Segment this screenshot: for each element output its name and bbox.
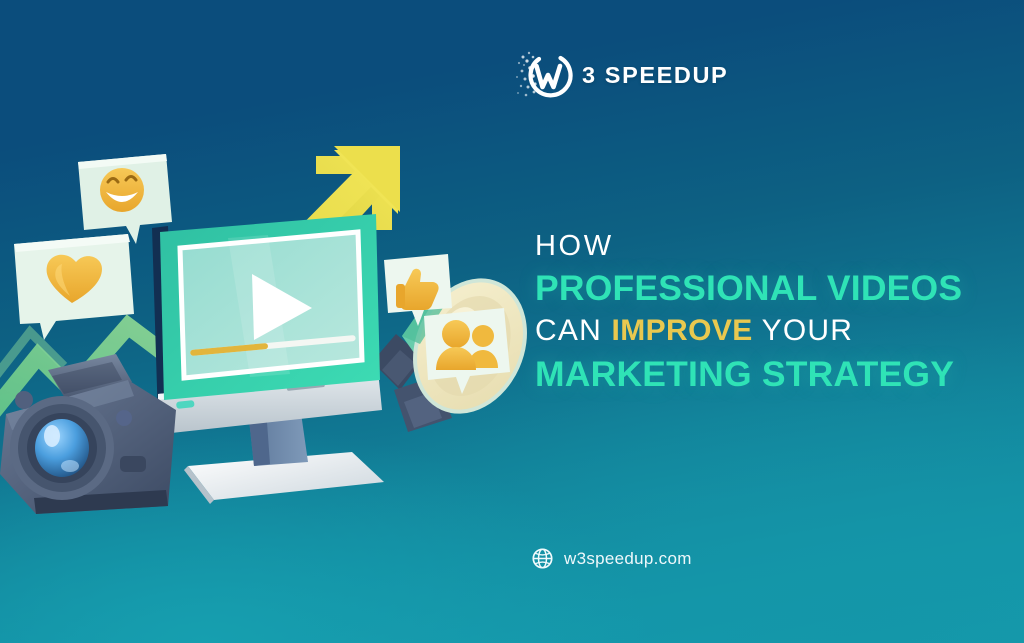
- footer-url-text: w3speedup.com: [564, 550, 692, 567]
- footer-website-link[interactable]: w3speedup.com: [532, 548, 692, 569]
- brand-logo[interactable]: 3 SPEEDUP: [515, 47, 728, 105]
- monitor-icon: [152, 214, 384, 504]
- headline-line-3: CAN IMPROVE YOUR: [535, 316, 1005, 346]
- headline-line-3-prefix: CAN: [535, 314, 611, 347]
- smiley-icon: [100, 168, 144, 212]
- headline-line-1: HOW: [535, 232, 1005, 261]
- headline-block: HOW PROFESSIONAL VIDEOS CAN IMPROVE YOUR…: [535, 232, 1005, 392]
- hero-illustration: [0, 118, 540, 518]
- w3-speedup-logo-icon: [515, 47, 573, 105]
- headline-line-2: PROFESSIONAL VIDEOS: [535, 271, 1005, 307]
- globe-icon: [532, 548, 553, 569]
- headline-line-4: MARKETING STRATEGY: [535, 357, 1005, 393]
- brand-logo-text: 3 SPEEDUP: [582, 64, 728, 88]
- headline-line-3-suffix: YOUR: [753, 314, 853, 347]
- marketing-banner: 3 SPEEDUP HOW PROFESSIONAL VIDEOS CAN IM…: [0, 0, 1024, 643]
- heart-bubble: [14, 234, 134, 340]
- headline-highlight-improve: IMPROVE: [611, 314, 752, 347]
